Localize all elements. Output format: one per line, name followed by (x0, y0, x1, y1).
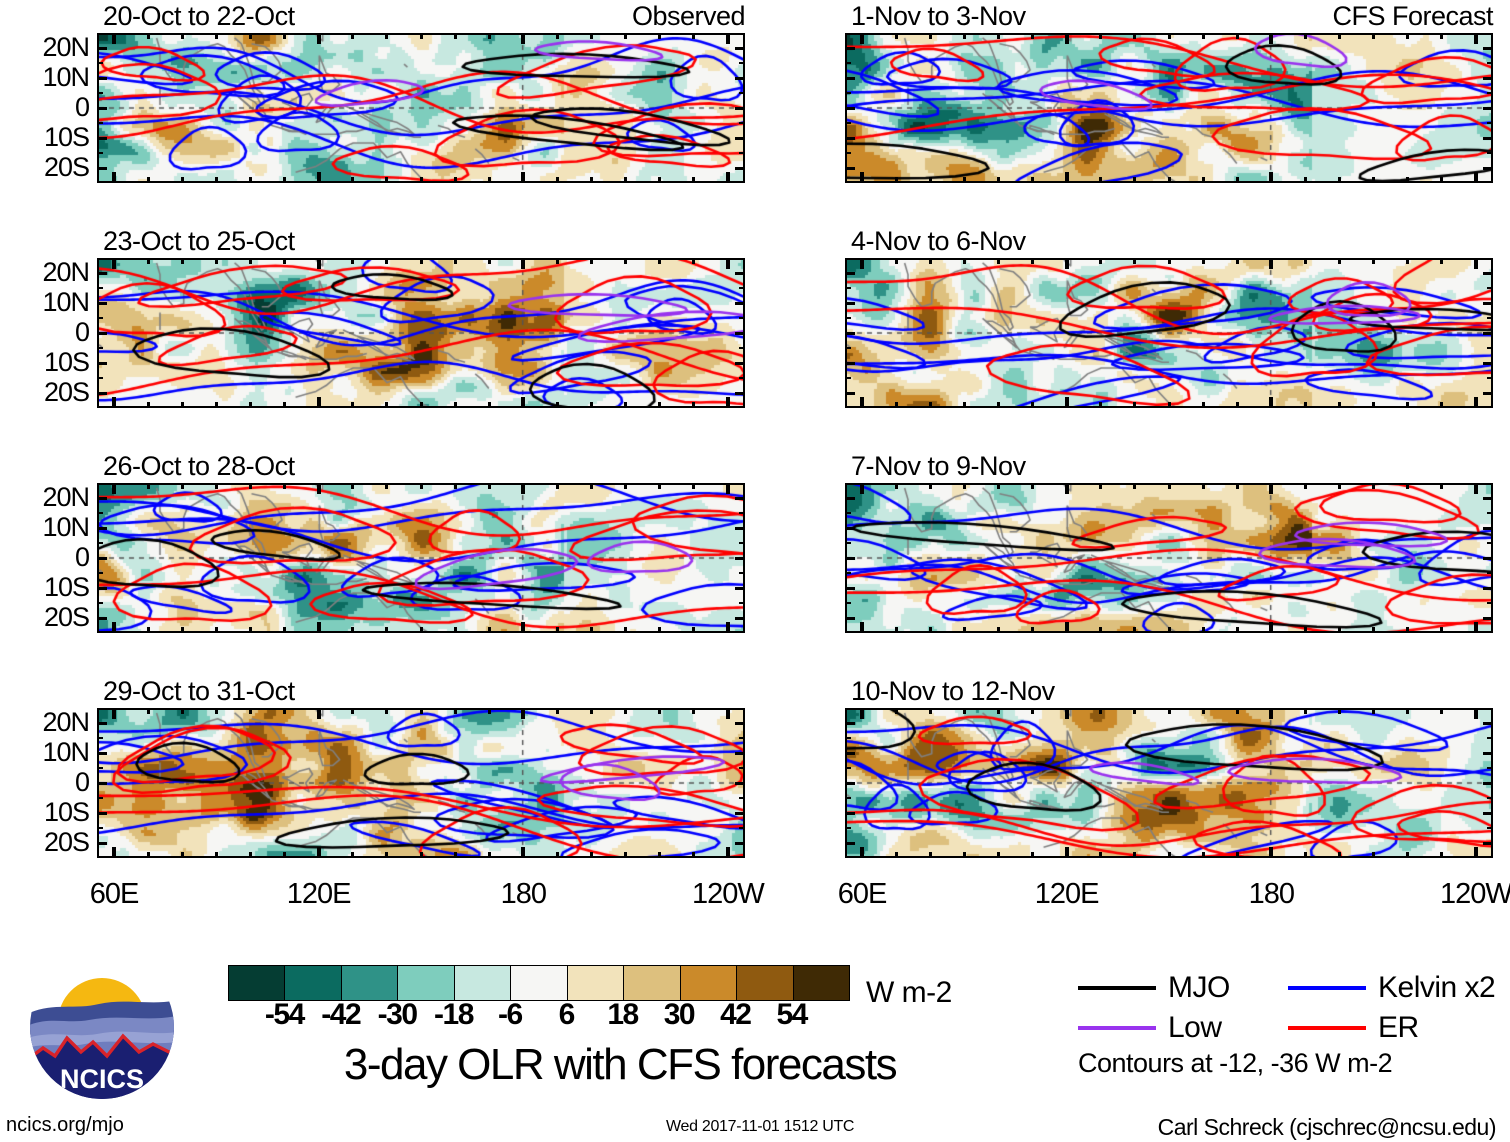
y-tick-mark (1483, 392, 1493, 395)
x-minor-tick (963, 852, 966, 858)
x-minor-tick (1099, 402, 1102, 408)
x-tick-mark (1065, 847, 1069, 858)
y-tick-mark (845, 272, 855, 275)
x-tick-mark (1269, 622, 1273, 633)
x-tick-mark (317, 397, 321, 408)
x-minor-tick (1133, 402, 1136, 408)
x-minor-tick (692, 627, 695, 633)
y-tick-mark (1483, 617, 1493, 620)
y-tick-mark (845, 782, 855, 785)
y-minor-tick (97, 737, 103, 739)
x-tick-mark (112, 622, 116, 633)
y-tick-0: 0 (5, 319, 89, 346)
x-minor-tick (420, 33, 423, 39)
x-minor-tick (215, 258, 218, 264)
y-minor-tick (1487, 827, 1493, 829)
y-tick-mark (845, 527, 855, 530)
y-minor-tick (1487, 512, 1493, 514)
x-tick-mark (317, 622, 321, 633)
map-panel-3 (845, 258, 1493, 408)
x-minor-tick (1031, 177, 1034, 183)
y-minor-tick (97, 287, 103, 289)
x-minor-tick (420, 402, 423, 408)
x-minor-tick (556, 708, 559, 714)
y-tick-mark (735, 497, 745, 500)
x-minor-tick (929, 483, 932, 489)
x-minor-tick (658, 483, 661, 489)
legend-row-2: Low ER (1078, 1008, 1498, 1048)
x-minor-tick (1406, 177, 1409, 183)
map-canvas-1 (847, 35, 1491, 181)
x-minor-tick (147, 33, 150, 39)
map-panel-0 (97, 33, 745, 183)
y-minor-tick (845, 62, 851, 64)
panel-title-2: 23-Oct to 25-Oct (103, 228, 295, 255)
legend-label-kelvin: Kelvin x2 (1378, 973, 1495, 1003)
x-minor-tick (1440, 483, 1443, 489)
x-minor-tick (1406, 483, 1409, 489)
y-tick-mark (845, 812, 855, 815)
y-minor-tick (1487, 377, 1493, 379)
x-minor-tick (488, 177, 491, 183)
x-minor-tick (215, 177, 218, 183)
x-minor-tick (624, 33, 627, 39)
x-minor-tick (1372, 402, 1375, 408)
y-tick-mark (97, 272, 107, 275)
x-minor-tick (1406, 627, 1409, 633)
x-minor-tick (1338, 852, 1341, 858)
x-tick-mark (317, 483, 321, 494)
y-minor-tick (739, 737, 745, 739)
y-minor-tick (97, 767, 103, 769)
y-minor-tick (739, 797, 745, 799)
map-panel-5 (845, 483, 1493, 633)
x-tick-mark (726, 622, 730, 633)
legend-label-low: Low (1168, 1013, 1222, 1043)
y-tick-mark (845, 362, 855, 365)
x-tick-mark (112, 483, 116, 494)
y-minor-tick (97, 152, 103, 154)
x-minor-tick (1338, 258, 1341, 264)
x-minor-tick (1372, 708, 1375, 714)
y-minor-tick (1487, 737, 1493, 739)
y-minor-tick (97, 62, 103, 64)
x-minor-tick (1099, 33, 1102, 39)
x-minor-tick (215, 852, 218, 858)
timestamp-text: Wed 2017-11-01 1512 UTC (666, 1119, 854, 1135)
y-tick-20N: 20N (5, 34, 89, 61)
x-tick-mark (726, 33, 730, 44)
y-tick-mark (97, 842, 107, 845)
x-minor-tick (181, 258, 184, 264)
x-tick-mark (726, 258, 730, 269)
y-minor-tick (845, 92, 851, 94)
x-tick-60E: 60E (44, 880, 184, 909)
x-tick-mark (1269, 708, 1273, 719)
x-minor-tick (1338, 708, 1341, 714)
y-minor-tick (1487, 797, 1493, 799)
mjo-line-swatch (1078, 986, 1156, 990)
map-canvas-0 (99, 35, 743, 181)
y-minor-tick (739, 377, 745, 379)
x-tick-mark (112, 397, 116, 408)
y-minor-tick (739, 542, 745, 544)
y-minor-tick (1487, 92, 1493, 94)
x-minor-tick (1202, 483, 1205, 489)
x-minor-tick (385, 483, 388, 489)
y-tick-mark (1483, 527, 1493, 530)
x-minor-tick (249, 402, 252, 408)
x-minor-tick (1168, 177, 1171, 183)
x-minor-tick (556, 177, 559, 183)
x-tick-mark (317, 172, 321, 183)
x-tick-mark (112, 33, 116, 44)
y-tick-10N: 10N (5, 64, 89, 91)
y-minor-tick (845, 287, 851, 289)
x-minor-tick (215, 33, 218, 39)
x-minor-tick (181, 708, 184, 714)
x-tick-mark (860, 397, 864, 408)
x-minor-tick (1440, 258, 1443, 264)
x-minor-tick (1202, 177, 1205, 183)
y-tick-mark (735, 587, 745, 590)
x-minor-tick (147, 177, 150, 183)
panel-title-3: 4-Nov to 6-Nov (851, 228, 1026, 255)
x-minor-tick (454, 33, 457, 39)
x-tick-120E: 120E (249, 880, 389, 909)
panel-title-6: 29-Oct to 31-Oct (103, 678, 295, 705)
x-minor-tick (1099, 708, 1102, 714)
y-tick-20S: 20S (5, 379, 89, 406)
x-tick-mark (1474, 172, 1478, 183)
y-tick-mark (845, 77, 855, 80)
x-minor-tick (624, 708, 627, 714)
column-header-1: CFS Forecast (1163, 3, 1493, 30)
x-minor-tick (658, 402, 661, 408)
y-minor-tick (845, 347, 851, 349)
y-minor-tick (739, 317, 745, 319)
x-minor-tick (658, 852, 661, 858)
y-tick-mark (845, 557, 855, 560)
legend-item-low: Low (1078, 1013, 1288, 1043)
x-minor-tick (929, 852, 932, 858)
x-minor-tick (590, 177, 593, 183)
x-minor-tick (249, 483, 252, 489)
x-tick-mark (726, 708, 730, 719)
y-tick-mark (845, 617, 855, 620)
x-minor-tick (1168, 402, 1171, 408)
y-tick-mark (1483, 842, 1493, 845)
x-tick-mark (1065, 708, 1069, 719)
x-minor-tick (1099, 177, 1102, 183)
x-tick-mark (860, 847, 864, 858)
x-minor-tick (997, 708, 1000, 714)
x-minor-tick (249, 627, 252, 633)
y-tick-mark (97, 587, 107, 590)
colorbar-units-label: W m-2 (866, 978, 952, 1008)
y-tick-mark (845, 47, 855, 50)
y-tick-mark (735, 362, 745, 365)
y-tick-mark (97, 77, 107, 80)
x-tick-mark (521, 708, 525, 719)
x-tick-mark (1065, 622, 1069, 633)
y-minor-tick (739, 92, 745, 94)
ncics-logo: NCICS (27, 952, 177, 1102)
x-minor-tick (997, 402, 1000, 408)
x-tick-mark (1474, 483, 1478, 494)
x-minor-tick (385, 402, 388, 408)
x-tick-mark (1269, 33, 1273, 44)
colorbar-segment-1 (285, 966, 341, 1000)
x-minor-tick (997, 33, 1000, 39)
x-minor-tick (556, 402, 559, 408)
x-minor-tick (590, 483, 593, 489)
y-tick-mark (97, 47, 107, 50)
x-minor-tick (1099, 852, 1102, 858)
y-tick-mark (735, 167, 745, 170)
y-tick-mark (97, 107, 107, 110)
y-tick-mark (97, 167, 107, 170)
x-minor-tick (351, 627, 354, 633)
x-minor-tick (895, 627, 898, 633)
x-minor-tick (1304, 852, 1307, 858)
y-tick-20N: 20N (5, 709, 89, 736)
y-minor-tick (739, 152, 745, 154)
y-tick-0: 0 (5, 544, 89, 571)
x-minor-tick (1236, 177, 1239, 183)
y-tick-mark (97, 362, 107, 365)
x-minor-tick (351, 33, 354, 39)
panel-title-5: 7-Nov to 9-Nov (851, 453, 1026, 480)
x-minor-tick (181, 627, 184, 633)
y-minor-tick (1487, 122, 1493, 124)
y-tick-10N: 10N (5, 514, 89, 541)
x-minor-tick (624, 258, 627, 264)
x-minor-tick (1236, 33, 1239, 39)
x-minor-tick (454, 852, 457, 858)
x-minor-tick (1168, 852, 1171, 858)
x-minor-tick (1202, 33, 1205, 39)
x-minor-tick (1406, 852, 1409, 858)
y-minor-tick (1487, 347, 1493, 349)
legend-item-mjo: MJO (1078, 973, 1288, 1003)
x-minor-tick (351, 177, 354, 183)
y-tick-mark (1483, 47, 1493, 50)
x-minor-tick (1202, 402, 1205, 408)
x-minor-tick (1168, 483, 1171, 489)
x-minor-tick (1031, 708, 1034, 714)
x-minor-tick (1031, 627, 1034, 633)
x-minor-tick (249, 852, 252, 858)
y-tick-mark (735, 812, 745, 815)
x-minor-tick (590, 852, 593, 858)
y-minor-tick (97, 797, 103, 799)
y-tick-mark (735, 752, 745, 755)
x-minor-tick (1338, 627, 1341, 633)
x-minor-tick (215, 708, 218, 714)
x-minor-tick (420, 177, 423, 183)
x-minor-tick (1202, 708, 1205, 714)
map-panel-2 (97, 258, 745, 408)
y-tick-mark (97, 302, 107, 305)
y-minor-tick (739, 287, 745, 289)
legend-row-1: MJO Kelvin x2 (1078, 968, 1498, 1008)
x-minor-tick (1372, 177, 1375, 183)
y-minor-tick (845, 542, 851, 544)
x-minor-tick (488, 483, 491, 489)
map-panel-1 (845, 33, 1493, 183)
y-tick-mark (735, 392, 745, 395)
y-minor-tick (97, 377, 103, 379)
y-minor-tick (1487, 602, 1493, 604)
x-minor-tick (181, 483, 184, 489)
y-tick-10N: 10N (5, 739, 89, 766)
y-minor-tick (97, 602, 103, 604)
x-minor-tick (147, 483, 150, 489)
x-tick-mark (521, 847, 525, 858)
x-minor-tick (181, 402, 184, 408)
x-minor-tick (1440, 402, 1443, 408)
y-minor-tick (845, 152, 851, 154)
legend-item-er: ER (1288, 1013, 1498, 1043)
x-minor-tick (1406, 402, 1409, 408)
x-tick-mark (1065, 397, 1069, 408)
x-minor-tick (590, 708, 593, 714)
x-minor-tick (283, 258, 286, 264)
x-minor-tick (895, 708, 898, 714)
x-minor-tick (488, 627, 491, 633)
x-minor-tick (1133, 483, 1136, 489)
y-tick-mark (1483, 77, 1493, 80)
y-tick-mark (845, 587, 855, 590)
x-minor-tick (1031, 258, 1034, 264)
x-tick-mark (112, 847, 116, 858)
y-tick-mark (1483, 332, 1493, 335)
x-minor-tick (488, 33, 491, 39)
x-minor-tick (929, 708, 932, 714)
colorbar (228, 965, 850, 1001)
y-tick-10S: 10S (5, 799, 89, 826)
x-minor-tick (895, 177, 898, 183)
author-credit-text: Carl Schreck (cjschrec@ncsu.edu) (1158, 1116, 1496, 1139)
x-minor-tick (692, 708, 695, 714)
y-tick-mark (735, 557, 745, 560)
x-tick-mark (1065, 483, 1069, 494)
x-minor-tick (895, 483, 898, 489)
map-canvas-3 (847, 260, 1491, 406)
x-minor-tick (556, 258, 559, 264)
x-tick-mark (521, 258, 525, 269)
x-minor-tick (658, 33, 661, 39)
x-tick-mark (521, 172, 525, 183)
x-minor-tick (1372, 258, 1375, 264)
x-minor-tick (1168, 258, 1171, 264)
map-canvas-6 (99, 710, 743, 856)
x-minor-tick (997, 177, 1000, 183)
colorbar-segment-5 (511, 966, 567, 1000)
x-tick-mark (1474, 33, 1478, 44)
x-minor-tick (1099, 627, 1102, 633)
y-tick-10N: 10N (5, 289, 89, 316)
x-minor-tick (1372, 483, 1375, 489)
x-minor-tick (1406, 708, 1409, 714)
colorbar-segment-6 (568, 966, 624, 1000)
x-tick-mark (860, 708, 864, 719)
x-minor-tick (692, 402, 695, 408)
x-minor-tick (488, 258, 491, 264)
x-minor-tick (590, 627, 593, 633)
colorbar-segment-9 (737, 966, 793, 1000)
x-minor-tick (997, 258, 1000, 264)
y-minor-tick (97, 122, 103, 124)
x-minor-tick (1440, 852, 1443, 858)
figure-title: 3-day OLR with CFS forecasts (240, 1043, 1000, 1087)
x-minor-tick (1236, 258, 1239, 264)
y-tick-0: 0 (5, 769, 89, 796)
kelvin-line-swatch (1288, 986, 1366, 990)
x-minor-tick (249, 258, 252, 264)
y-tick-mark (735, 332, 745, 335)
x-minor-tick (385, 177, 388, 183)
y-tick-mark (1483, 362, 1493, 365)
x-minor-tick (997, 852, 1000, 858)
x-minor-tick (1304, 402, 1307, 408)
x-minor-tick (556, 33, 559, 39)
x-minor-tick (351, 402, 354, 408)
x-minor-tick (1031, 483, 1034, 489)
y-minor-tick (845, 737, 851, 739)
x-tick-mark (317, 33, 321, 44)
x-minor-tick (1440, 708, 1443, 714)
legend-item-kelvin: Kelvin x2 (1288, 973, 1498, 1003)
x-tick-mark (112, 258, 116, 269)
contour-legend: MJO Kelvin x2 Low ER (1078, 968, 1498, 1048)
x-minor-tick (692, 177, 695, 183)
x-minor-tick (351, 708, 354, 714)
x-minor-tick (351, 852, 354, 858)
y-tick-mark (735, 527, 745, 530)
x-minor-tick (147, 852, 150, 858)
y-tick-10S: 10S (5, 574, 89, 601)
y-tick-mark (1483, 107, 1493, 110)
panel-title-0: 20-Oct to 22-Oct (103, 3, 295, 30)
y-minor-tick (845, 767, 851, 769)
x-minor-tick (556, 483, 559, 489)
x-minor-tick (454, 258, 457, 264)
x-minor-tick (215, 627, 218, 633)
x-minor-tick (1168, 627, 1171, 633)
y-tick-mark (845, 752, 855, 755)
x-minor-tick (385, 852, 388, 858)
x-minor-tick (963, 177, 966, 183)
colorbar-segment-2 (342, 966, 398, 1000)
x-tick-mark (521, 33, 525, 44)
y-tick-mark (845, 842, 855, 845)
y-minor-tick (1487, 62, 1493, 64)
x-minor-tick (1304, 258, 1307, 264)
x-minor-tick (997, 483, 1000, 489)
map-canvas-4 (99, 485, 743, 631)
x-minor-tick (963, 627, 966, 633)
x-tick-mark (1269, 172, 1273, 183)
x-minor-tick (1304, 33, 1307, 39)
x-minor-tick (692, 852, 695, 858)
colorbar-segment-4 (455, 966, 511, 1000)
x-minor-tick (454, 708, 457, 714)
x-minor-tick (1236, 402, 1239, 408)
y-tick-mark (1483, 782, 1493, 785)
x-minor-tick (283, 402, 286, 408)
